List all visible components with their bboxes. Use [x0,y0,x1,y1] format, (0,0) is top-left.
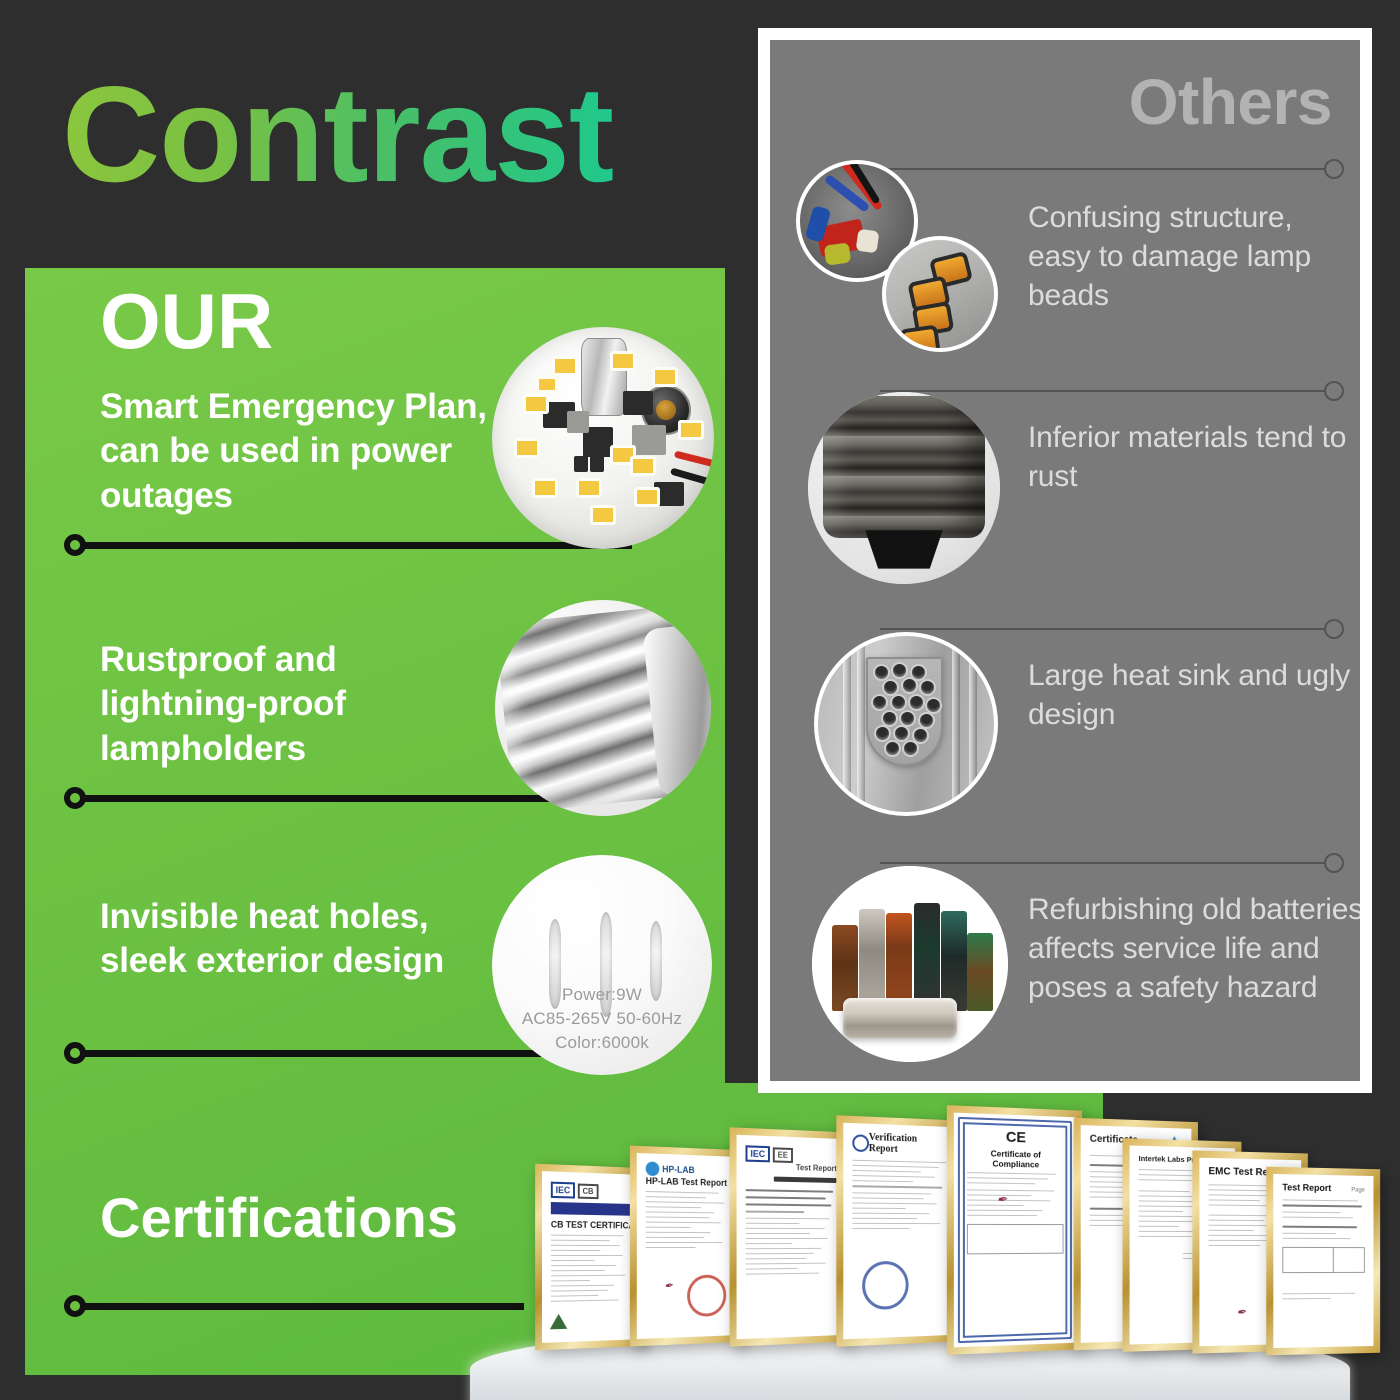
certificate-title: Verification Report [869,1132,946,1157]
certificate-card[interactable]: CE Certificate of Compliance ✒ [947,1105,1082,1355]
certificate-title: CB TEST CERTIFICATE [551,1219,632,1230]
certificate-card[interactable]: IECEE Test Report TEST REPORT IEC 62133 [730,1127,852,1346]
certificates-fan: IECCB CB TEST CERTIFICATE HP-LAB H [0,0,1400,1400]
certificate-card[interactable]: Verification Report [836,1115,960,1346]
certificate-title: Test Report [1282,1182,1331,1193]
infographic-root: Contrast OUR Smart Emergency Plan, can b… [0,0,1400,1400]
certificate-card[interactable]: HP-LAB HP-LAB Test Report ✒ [630,1146,745,1347]
certificate-title: Certificate of Compliance [967,1148,1064,1170]
certificate-card[interactable]: Test Report Page [1266,1167,1380,1356]
certificate-title: HP-LAB Test Report [646,1176,731,1188]
